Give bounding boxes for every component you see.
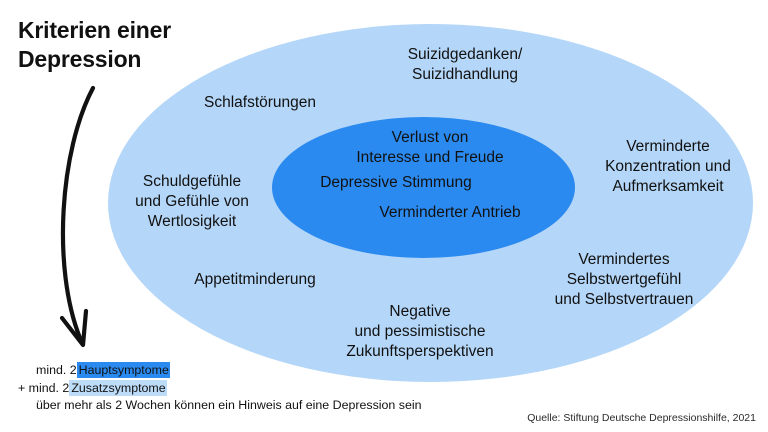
symptom-label-schuldgefuehle: Schuldgefühle und Gefühle von Wertlosigk… (112, 172, 272, 231)
infographic-canvas: Kriterien einer Depression Suizidgedanke… (0, 0, 768, 432)
symptom-label-suizidgedanken: Suizidgedanken/ Suizidhandlung (345, 45, 585, 85)
symptom-label-depressive-stimmung: Depressive Stimmung (271, 173, 521, 193)
symptom-label-verminderter-antrieb: Verminderter Antrieb (325, 203, 575, 223)
symptom-label-vermindertes-selbstwertgefuehl: Vermindertes Selbstwertgefühl und Selbst… (518, 250, 730, 309)
legend-row-hauptsymptome: mind. 2 Hauptsymptome (18, 362, 421, 380)
symptom-label-verminderte-konzentration: Verminderte Konzentration und Aufmerksam… (578, 137, 758, 196)
symptom-label-appetitminderung: Appetitminderung (155, 270, 355, 290)
symptom-label-verlust-interesse-freude: Verlust von Interesse und Freude (300, 128, 560, 168)
legend-highlight-zusatzsymptome: Zusatzsymptome (69, 380, 166, 396)
legend-row-zusatzsymptome: + mind. 2 Zusatzsymptome (18, 380, 421, 398)
symptom-label-negative-zukunftsperspektiven: Negative und pessimistische Zukunftspers… (300, 302, 540, 361)
legend-line1-prefix: mind. 2 (36, 362, 77, 380)
legend-line2-prefix: + mind. 2 (18, 380, 69, 398)
source-credit: Quelle: Stiftung Deutsche Depressionshil… (527, 412, 756, 424)
legend-highlight-hauptsymptome: Hauptsymptome (77, 362, 170, 378)
legend-row-dauer: über mehr als 2 Wochen können ein Hinwei… (18, 397, 421, 415)
legend: mind. 2 Hauptsymptome + mind. 2 Zusatzsy… (18, 362, 421, 415)
symptom-label-schlafstoerungen: Schlafstörungen (165, 93, 355, 113)
page-title: Kriterien einer Depression (18, 16, 248, 73)
